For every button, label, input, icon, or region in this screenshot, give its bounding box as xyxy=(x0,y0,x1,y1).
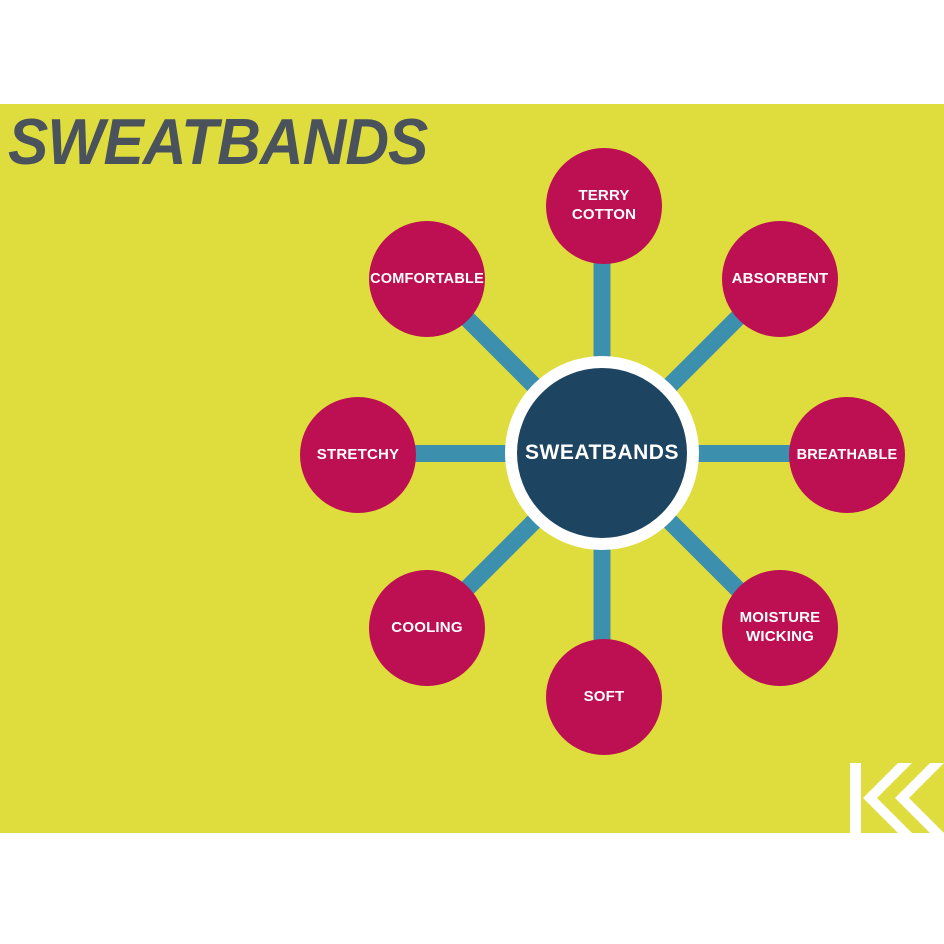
node-label: STRETCHY xyxy=(315,446,401,465)
page-title: SWEATBANDS xyxy=(8,108,427,176)
node-label: SOFT xyxy=(582,688,627,707)
node-label: COMFORTABLE xyxy=(368,270,486,288)
node-terry-cotton[interactable]: TERRY COTTON xyxy=(546,148,662,264)
node-label: COOLING xyxy=(389,619,464,638)
node-soft[interactable]: SOFT xyxy=(546,639,662,755)
node-label: BREATHABLE xyxy=(795,446,900,464)
k-chevron-logo xyxy=(840,763,944,833)
node-comfortable[interactable]: COMFORTABLE xyxy=(369,221,485,337)
node-label: TERRY COTTON xyxy=(570,187,638,225)
node-cooling[interactable]: COOLING xyxy=(369,570,485,686)
node-label: MOISTURE WICKING xyxy=(738,609,823,647)
node-breathable[interactable]: BREATHABLE xyxy=(789,397,905,513)
poster-canvas: SWEATBANDS TERRY COTTON ABSORBENT BREATH… xyxy=(0,0,944,944)
hub-circle[interactable]: SWEATBANDS xyxy=(505,356,699,550)
node-moisture-wicking[interactable]: MOISTURE WICKING xyxy=(722,570,838,686)
node-stretchy[interactable]: STRETCHY xyxy=(300,397,416,513)
node-label: ABSORBENT xyxy=(730,270,831,289)
hub-label: SWEATBANDS xyxy=(525,441,679,464)
node-absorbent[interactable]: ABSORBENT xyxy=(722,221,838,337)
